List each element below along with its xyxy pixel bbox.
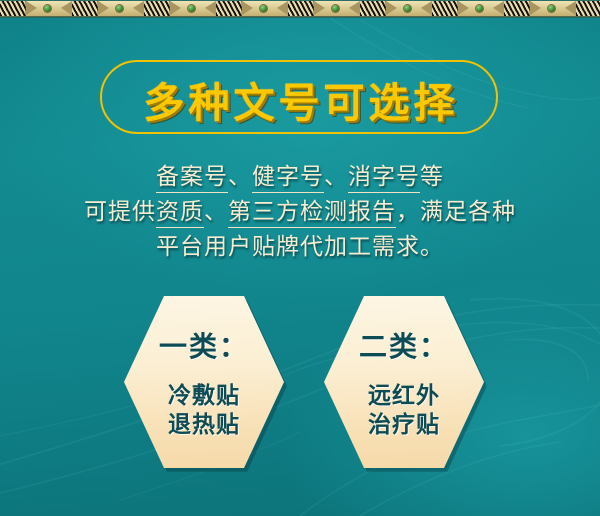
body-line: 平台用户贴牌代加工需求。 <box>0 230 600 265</box>
body-text-run: 等 <box>420 164 444 190</box>
category-two-item-2: 治疗贴 <box>368 410 440 439</box>
hatch-block <box>576 1 600 16</box>
gem-icon <box>188 5 195 12</box>
ornamental-top-border <box>0 0 600 18</box>
hatch-block <box>144 1 170 16</box>
border-motif-tile <box>360 1 432 16</box>
border-motif-tile <box>504 1 576 16</box>
border-motif-tile <box>288 1 360 16</box>
category-two-item-1: 远红外 <box>368 381 440 410</box>
promo-poster: 多种文号可选择 备案号、健字号、消字号等可提供资质、第三方检测报告，满足各种平台… <box>0 0 600 516</box>
body-text-run: 、 <box>324 164 348 190</box>
title-frame: 多种文号可选择 <box>100 60 498 134</box>
body-highlight-term: 第三方检测报告 <box>228 199 396 228</box>
border-motif-tile <box>432 1 504 16</box>
body-line: 备案号、健字号、消字号等 <box>0 160 600 195</box>
hatch-block <box>72 1 98 16</box>
hatch-block <box>216 1 242 16</box>
border-divider <box>313 1 314 16</box>
hatch-block <box>504 1 530 16</box>
border-divider <box>385 1 386 16</box>
gem-icon <box>548 5 555 12</box>
category-one-item-1: 冷敷贴 <box>168 381 240 410</box>
page-title: 多种文号可选择 <box>102 62 500 136</box>
body-highlight-term: 备案号 <box>156 164 228 193</box>
border-divider <box>457 1 458 16</box>
border-divider <box>97 1 98 16</box>
category-one-heading: 一类： <box>159 325 249 365</box>
border-divider <box>25 1 26 16</box>
category-one-item-2: 退热贴 <box>168 410 240 439</box>
border-top-edge <box>0 0 600 1</box>
hatch-block <box>0 1 26 16</box>
hatch-block <box>432 1 458 16</box>
gem-icon <box>476 5 483 12</box>
border-tile-row <box>0 1 600 16</box>
body-line: 可提供资质、第三方检测报告，满足各种 <box>0 195 600 230</box>
border-motif-tile <box>72 1 144 16</box>
border-motif-tile <box>144 1 216 16</box>
gem-icon <box>332 5 339 12</box>
gem-icon <box>260 5 267 12</box>
border-bottom-edge <box>0 16 600 18</box>
border-divider <box>241 1 242 16</box>
body-text-run: 、 <box>228 164 252 190</box>
hatch-block <box>360 1 386 16</box>
gem-icon <box>404 5 411 12</box>
body-paragraph: 备案号、健字号、消字号等可提供资质、第三方检测报告，满足各种平台用户贴牌代加工需… <box>0 160 600 265</box>
gem-icon <box>116 5 123 12</box>
body-text-run: 平台用户贴牌代加工需求。 <box>156 234 444 260</box>
hatch-block <box>288 1 314 16</box>
category-two-heading: 二类： <box>359 325 449 365</box>
body-highlight-term: 健字号 <box>252 164 324 193</box>
gem-icon <box>44 5 51 12</box>
border-motif-tile <box>216 1 288 16</box>
border-divider <box>169 1 170 16</box>
body-text-run: ，满足各种 <box>396 199 516 225</box>
border-divider <box>529 1 530 16</box>
body-text-run: 可提供 <box>84 199 156 225</box>
border-motif-tile <box>576 1 600 16</box>
border-motif-tile <box>0 1 72 16</box>
body-highlight-term: 资质 <box>156 199 204 228</box>
body-text-run: 、 <box>204 199 228 225</box>
body-highlight-term: 消字号 <box>348 164 420 193</box>
